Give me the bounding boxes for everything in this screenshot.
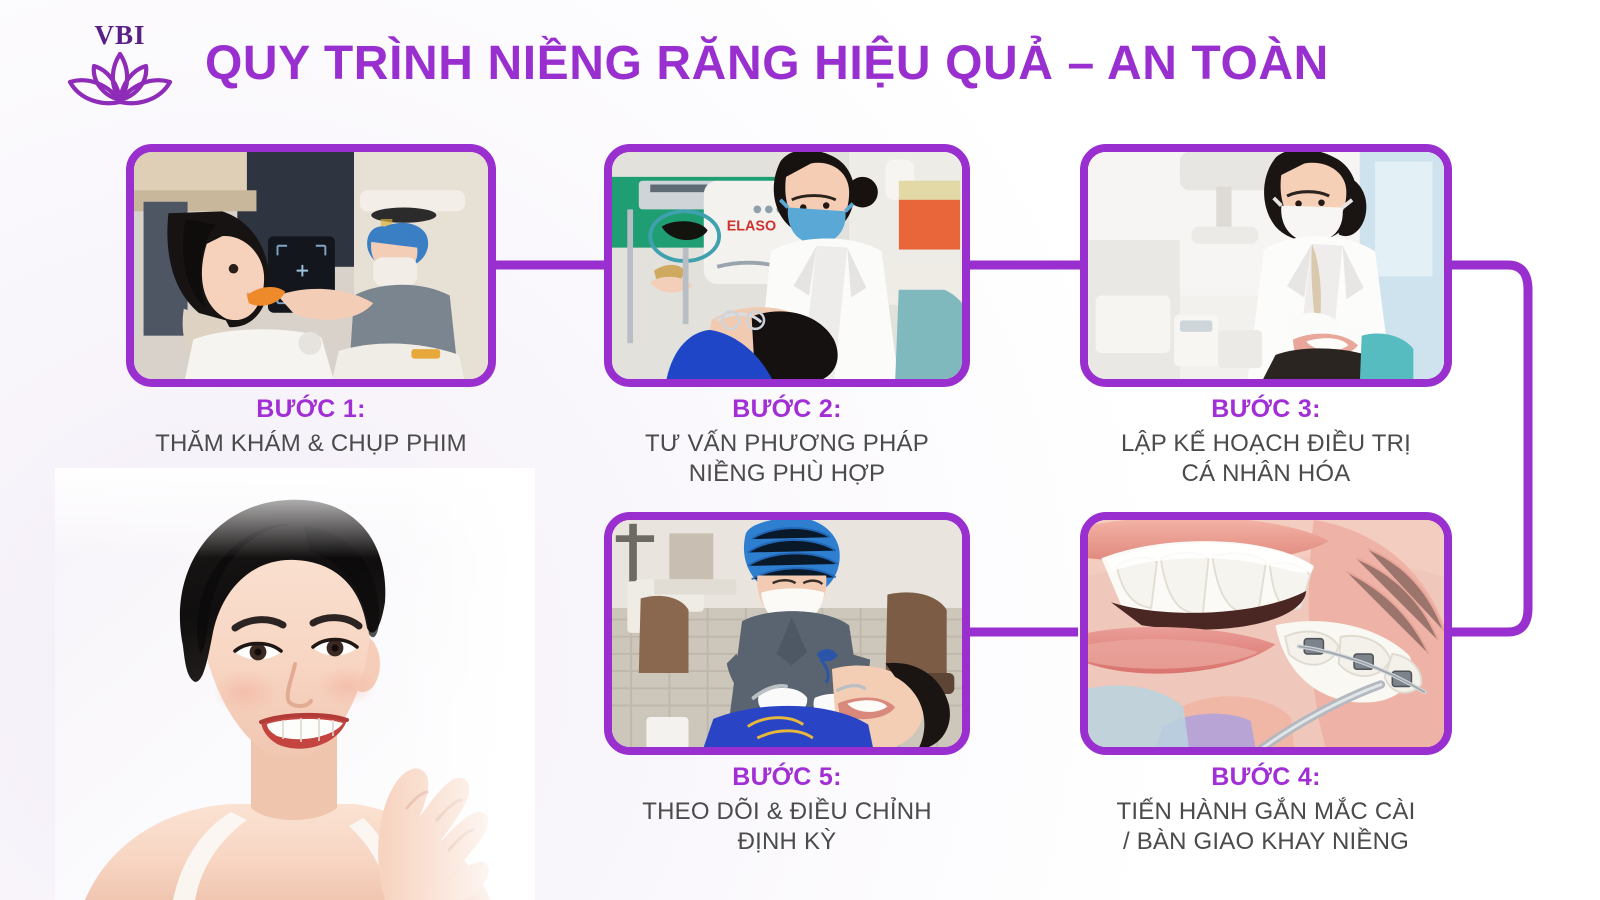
step-4-label: BƯỚC 4: [1068, 762, 1464, 793]
lotus-flower-icon [64, 44, 176, 110]
page-title: QUY TRÌNH NIỀNG RĂNG HIỆU QUẢ – AN TOÀN [205, 26, 1329, 100]
step-2-photo: ELASO [612, 152, 962, 384]
step-5-photo [612, 520, 962, 752]
step-5-image-card[interactable] [604, 512, 970, 755]
infographic-canvas: VBI QUY TRÌNH NIỀNG RĂNG HIỆU QUẢ – AN T… [0, 0, 1600, 900]
step-5-label: BƯỚC 5: [604, 762, 970, 793]
step-2-description: TƯ VẤN PHƯƠNG PHÁP NIỀNG PHÙ HỢP [604, 429, 970, 489]
svg-text:ELASO: ELASO [727, 218, 776, 234]
step-4-photo [1088, 520, 1444, 753]
hero-portrait [55, 468, 535, 900]
connector-3-4 [1452, 265, 1528, 632]
step-2-image-card[interactable]: ELASO [604, 144, 970, 387]
step-1-description: THĂM KHÁM & CHỤP PHIM [126, 429, 496, 459]
step-5-caption: BƯỚC 5: THEO DÕI & ĐIỀU CHỈNH ĐỊNH KỲ [604, 762, 970, 857]
hero-fade-right [385, 468, 535, 900]
step-1-label: BƯỚC 1: [126, 394, 496, 425]
brand-logo: VBI [64, 14, 176, 110]
step-5-description: THEO DÕI & ĐIỀU CHỈNH ĐỊNH KỲ [604, 797, 970, 857]
step-2-caption: BƯỚC 2: TƯ VẤN PHƯƠNG PHÁP NIỀNG PHÙ HỢP [604, 394, 970, 489]
step-1-caption: BƯỚC 1: THĂM KHÁM & CHỤP PHIM [126, 394, 496, 459]
step-3-description: LẬP KẾ HOẠCH ĐIỀU TRỊ CÁ NHÂN HÓA [1080, 429, 1452, 489]
step-4-caption: BƯỚC 4: TIẾN HÀNH GẮN MẮC CÀI / BÀN GIAO… [1068, 762, 1464, 857]
step-3-caption: BƯỚC 3: LẬP KẾ HOẠCH ĐIỀU TRỊ CÁ NHÂN HÓ… [1080, 394, 1452, 489]
step-3-label: BƯỚC 3: [1080, 394, 1452, 425]
step-2-label: BƯỚC 2: [604, 394, 970, 425]
step-1-photo [134, 152, 488, 384]
header: VBI QUY TRÌNH NIỀNG RĂNG HIỆU QUẢ – AN T… [0, 0, 1600, 120]
step-1-image-card[interactable] [126, 144, 496, 387]
step-4-description: TIẾN HÀNH GẮN MẮC CÀI / BÀN GIAO KHAY NI… [1068, 797, 1464, 857]
step-4-image-card[interactable] [1080, 512, 1452, 755]
step-3-image-card[interactable] [1080, 144, 1452, 387]
step-3-photo [1088, 152, 1444, 385]
